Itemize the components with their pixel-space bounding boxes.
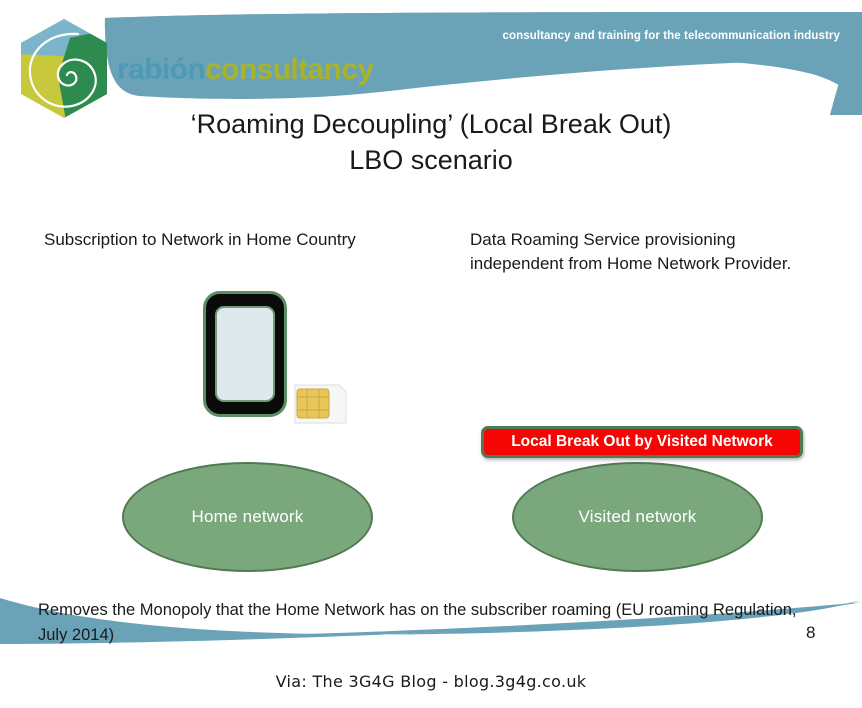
local-break-out-callout: Local Break Out by Visited Network	[481, 426, 803, 458]
page-number: 8	[806, 623, 815, 643]
slide-canvas: consultancy and training for the telecom…	[0, 0, 862, 655]
attribution-text: Via: The 3G4G Blog - blog.3g4g.co.uk	[276, 672, 587, 691]
title-line-2: LBO scenario	[0, 142, 862, 178]
wordmark-rabion: rabión	[117, 53, 205, 86]
visited-network-label: Visited network	[579, 507, 697, 527]
visited-network-node: Visited network	[512, 462, 763, 572]
brand-tagline: consultancy and training for the telecom…	[470, 30, 840, 42]
caption-roaming-line-1: Data Roaming Service provisioning	[470, 228, 858, 252]
home-network-label: Home network	[192, 507, 304, 527]
page-title: ‘Roaming Decoupling’ (Local Break Out) L…	[0, 106, 862, 178]
sim-card-icon	[293, 383, 348, 425]
attribution-strip: Via: The 3G4G Blog - blog.3g4g.co.uk	[0, 655, 862, 708]
local-break-out-label: Local Break Out by Visited Network	[511, 433, 773, 451]
caption-home-subscription: Subscription to Network in Home Country	[44, 228, 444, 252]
brand-wordmark: rabiónconsultancy	[117, 53, 374, 87]
caption-roaming-line-2: independent from Home Network Provider.	[470, 252, 858, 276]
wordmark-consultancy: consultancy	[205, 53, 373, 86]
caption-roaming-service: Data Roaming Service provisioning indepe…	[470, 228, 858, 276]
title-line-1: ‘Roaming Decoupling’ (Local Break Out)	[0, 106, 862, 142]
home-network-node: Home network	[122, 462, 373, 572]
mobile-phone-icon	[203, 291, 287, 417]
phone-screen	[215, 306, 275, 402]
footer-note: Removes the Monopoly that the Home Netwo…	[38, 598, 828, 648]
